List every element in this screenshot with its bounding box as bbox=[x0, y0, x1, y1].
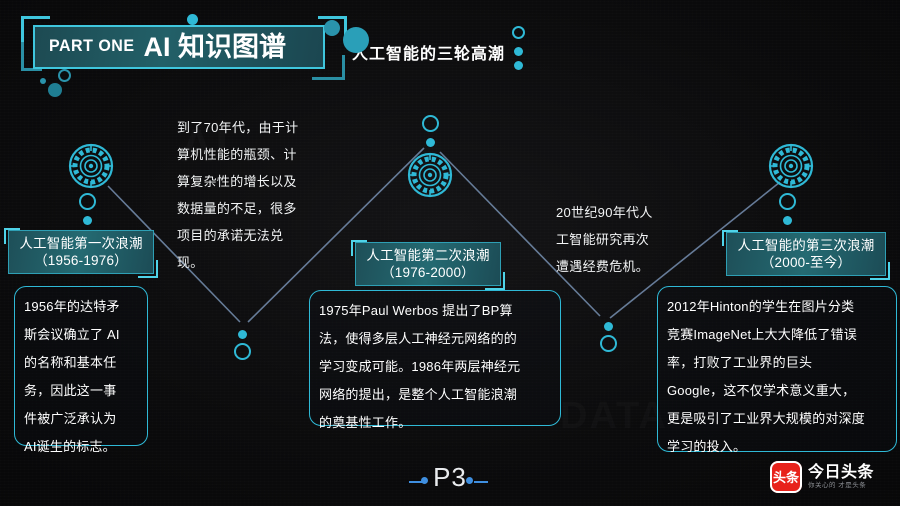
wave-corner-bottom-right bbox=[485, 272, 505, 290]
slide-header: PART ONE AI 知识图谱 人工智能的三轮高潮 bbox=[0, 0, 560, 100]
decor-dot bbox=[514, 47, 523, 56]
decor-dot bbox=[343, 27, 369, 53]
toutiao-logo-slogan: 你关心的 才是头条 bbox=[808, 481, 874, 490]
node-dot bbox=[83, 216, 92, 225]
node-ring bbox=[600, 335, 617, 352]
background-ghost-text: DATA bbox=[560, 395, 668, 438]
wave-label-first[interactable]: 人工智能第一次浪潮 （1956-1976） bbox=[4, 228, 156, 276]
toutiao-logo: 头条 今日头条 你关心的 才是头条 bbox=[770, 461, 874, 493]
node-dot bbox=[426, 138, 435, 147]
wave-corner-top-left bbox=[722, 230, 738, 246]
node-peak-1 bbox=[68, 143, 114, 194]
wave-corner-top-left bbox=[351, 240, 367, 256]
header-part-label: PART ONE bbox=[49, 38, 134, 57]
detail-second-wave: 1975年Paul Werbos 提出了BP算 法，使得多层人工神经元网络的的 … bbox=[309, 290, 561, 426]
page-title: AI 知识图谱 bbox=[143, 34, 286, 61]
page-number-dot-left bbox=[421, 477, 428, 484]
slide-canvas: AI DATA PART ONE AI 知识图谱 人工智能的三轮高潮 bbox=[0, 0, 900, 506]
node-ring bbox=[779, 193, 796, 210]
node-ring bbox=[422, 115, 439, 132]
decor-dot bbox=[40, 78, 46, 84]
decor-dot bbox=[187, 14, 198, 25]
decor-dot bbox=[324, 20, 340, 36]
header-title-badge: PART ONE AI 知识图谱 bbox=[33, 25, 325, 69]
decor-ring bbox=[58, 69, 71, 82]
paragraph-70s-bottleneck: 到了70年代，由于计 算机性能的瓶颈、计 算复杂性的增长以及 数据量的不足，很多… bbox=[177, 114, 337, 276]
detail-third-wave: 2012年Hinton的学生在图片分类 竞赛ImageNet上大大降低了错误 率… bbox=[657, 286, 897, 452]
page-number-dot-right bbox=[466, 477, 473, 484]
paragraph-90s-funding-crisis: 20世纪90年代人 工智能研究再次 遭遇经费危机。 bbox=[556, 199, 686, 280]
gear-circle-icon bbox=[68, 143, 114, 189]
wave-corner-bottom-right bbox=[870, 262, 890, 280]
node-dot bbox=[604, 322, 613, 331]
node-ring bbox=[79, 193, 96, 210]
gear-circle-icon bbox=[407, 152, 453, 198]
wave-corner-top-left bbox=[4, 228, 20, 244]
node-peak-3 bbox=[768, 143, 814, 194]
node-dot bbox=[783, 216, 792, 225]
wave-title: 人工智能第一次浪潮 bbox=[19, 235, 142, 252]
wave-period: （1956-1976） bbox=[34, 252, 128, 270]
toutiao-logo-mark: 头条 bbox=[770, 461, 802, 493]
wave-label-third[interactable]: 人工智能的第三次浪潮 （2000-至今） bbox=[722, 230, 888, 278]
header-subtitle: 人工智能的三轮高潮 bbox=[352, 40, 505, 64]
gear-circle-icon bbox=[768, 143, 814, 189]
wave-period: （2000-至今） bbox=[761, 254, 851, 272]
wave-label-second[interactable]: 人工智能第二次浪潮 （1976-2000） bbox=[351, 240, 503, 288]
decor-dot bbox=[514, 61, 523, 70]
wave-title: 人工智能第二次浪潮 bbox=[366, 247, 489, 264]
wave-title: 人工智能的第三次浪潮 bbox=[738, 237, 875, 254]
toutiao-logo-name: 今日头条 bbox=[808, 464, 874, 481]
node-dot bbox=[238, 330, 247, 339]
page-number-dash-right bbox=[474, 481, 488, 483]
decor-ring bbox=[512, 26, 525, 39]
wave-corner-bottom-right bbox=[138, 260, 158, 278]
decor-dot bbox=[48, 83, 62, 97]
detail-first-wave: 1956年的达特矛 斯会议确立了 AI 的名称和基本任 务，因此这一事 件被广泛… bbox=[14, 286, 148, 446]
page-number: P3 bbox=[0, 462, 900, 493]
node-ring bbox=[234, 343, 251, 360]
wave-period: （1976-2000） bbox=[381, 264, 475, 282]
